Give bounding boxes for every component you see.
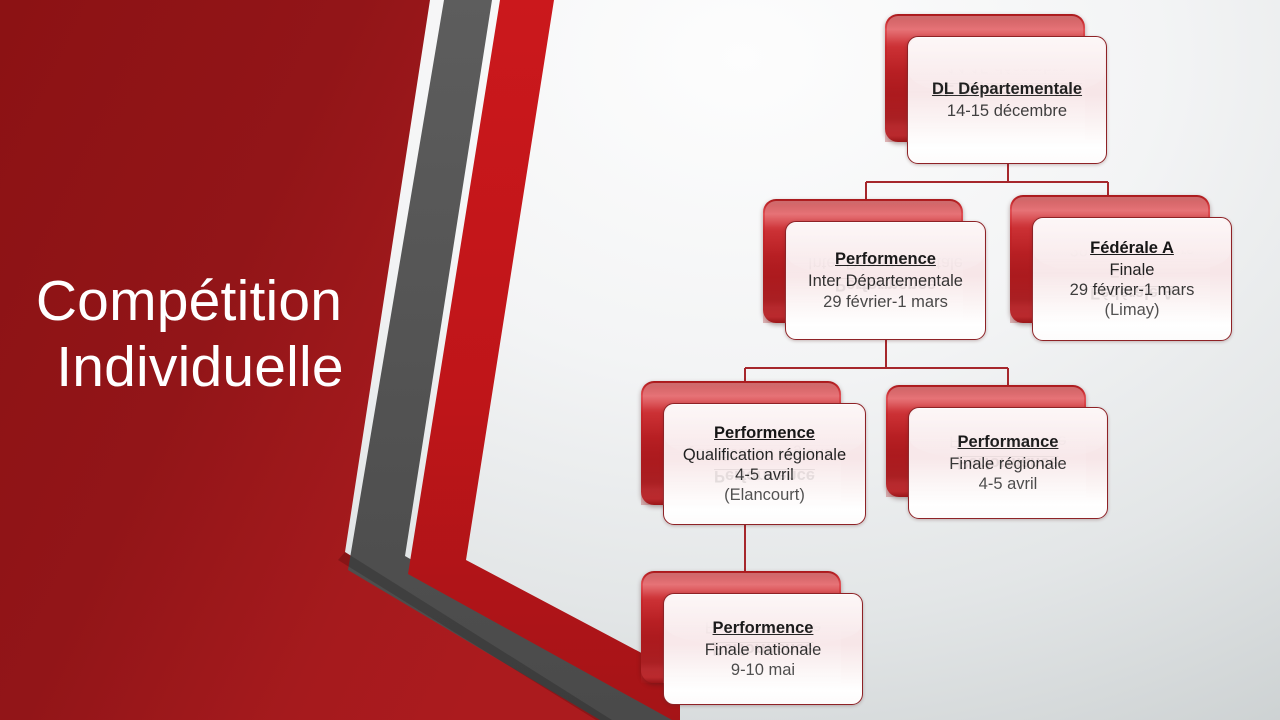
title-line-2: Individuelle (14, 334, 364, 400)
slide-canvas: Compétition Individuelle (0, 0, 1280, 720)
node-heading: Performence (713, 618, 814, 638)
node-panel: DL Départementale 14-15 décembre (907, 36, 1107, 164)
node-detail: 9-10 mai (731, 660, 795, 680)
node-panel: Performence Qualification régionale 4-5 … (663, 403, 866, 525)
node-finale-regionale[interactable]: Performance Finale régionale 4-5 avril P… (886, 385, 1086, 497)
title-line-1: Compétition (14, 268, 364, 334)
node-detail: 29 février-1 mars (1070, 280, 1195, 300)
node-detail: (Limay) (1104, 300, 1159, 320)
node-panel: Performance Finale régionale 4-5 avril (908, 407, 1108, 519)
node-detail: 14-15 décembre (947, 101, 1067, 121)
node-heading: Fédérale A (1090, 238, 1174, 258)
node-qualification-regionale[interactable]: Performence Qualification régionale 4-5 … (641, 381, 841, 505)
node-detail: Inter Départementale (808, 271, 963, 291)
node-detail: Qualification régionale (683, 445, 846, 465)
node-panel: Performence Inter Départementale 29 févr… (785, 221, 986, 340)
node-panel: Fédérale A Finale 29 février-1 mars (Lim… (1032, 217, 1232, 341)
node-heading: Performence (835, 249, 936, 269)
page-title: Compétition Individuelle (14, 268, 364, 400)
node-detail: Finale (1110, 260, 1155, 280)
node-inter-departementale[interactable]: Performence Inter Départementale 29 févr… (763, 199, 963, 323)
node-detail: Finale régionale (949, 454, 1066, 474)
node-detail: (Elancourt) (724, 485, 805, 505)
node-heading: Performance (958, 432, 1059, 452)
node-heading: DL Départementale (932, 79, 1082, 99)
node-panel: Performence Finale nationale 9-10 mai (663, 593, 863, 705)
node-detail: Finale nationale (705, 640, 822, 660)
node-detail: 4-5 avril (979, 474, 1038, 494)
node-detail: 29 février-1 mars (823, 292, 948, 312)
node-finale-nationale[interactable]: Performence Finale nationale 9-10 mai Pe… (641, 571, 841, 683)
node-detail: 4-5 avril (735, 465, 794, 485)
node-federale-a[interactable]: Fédérale A Finale 29 février-1 mars (Lim… (1010, 195, 1210, 323)
node-heading: Performence (714, 423, 815, 443)
node-dl-departementale[interactable]: DL Départementale 14-15 décembre DL Dépa… (885, 14, 1085, 142)
